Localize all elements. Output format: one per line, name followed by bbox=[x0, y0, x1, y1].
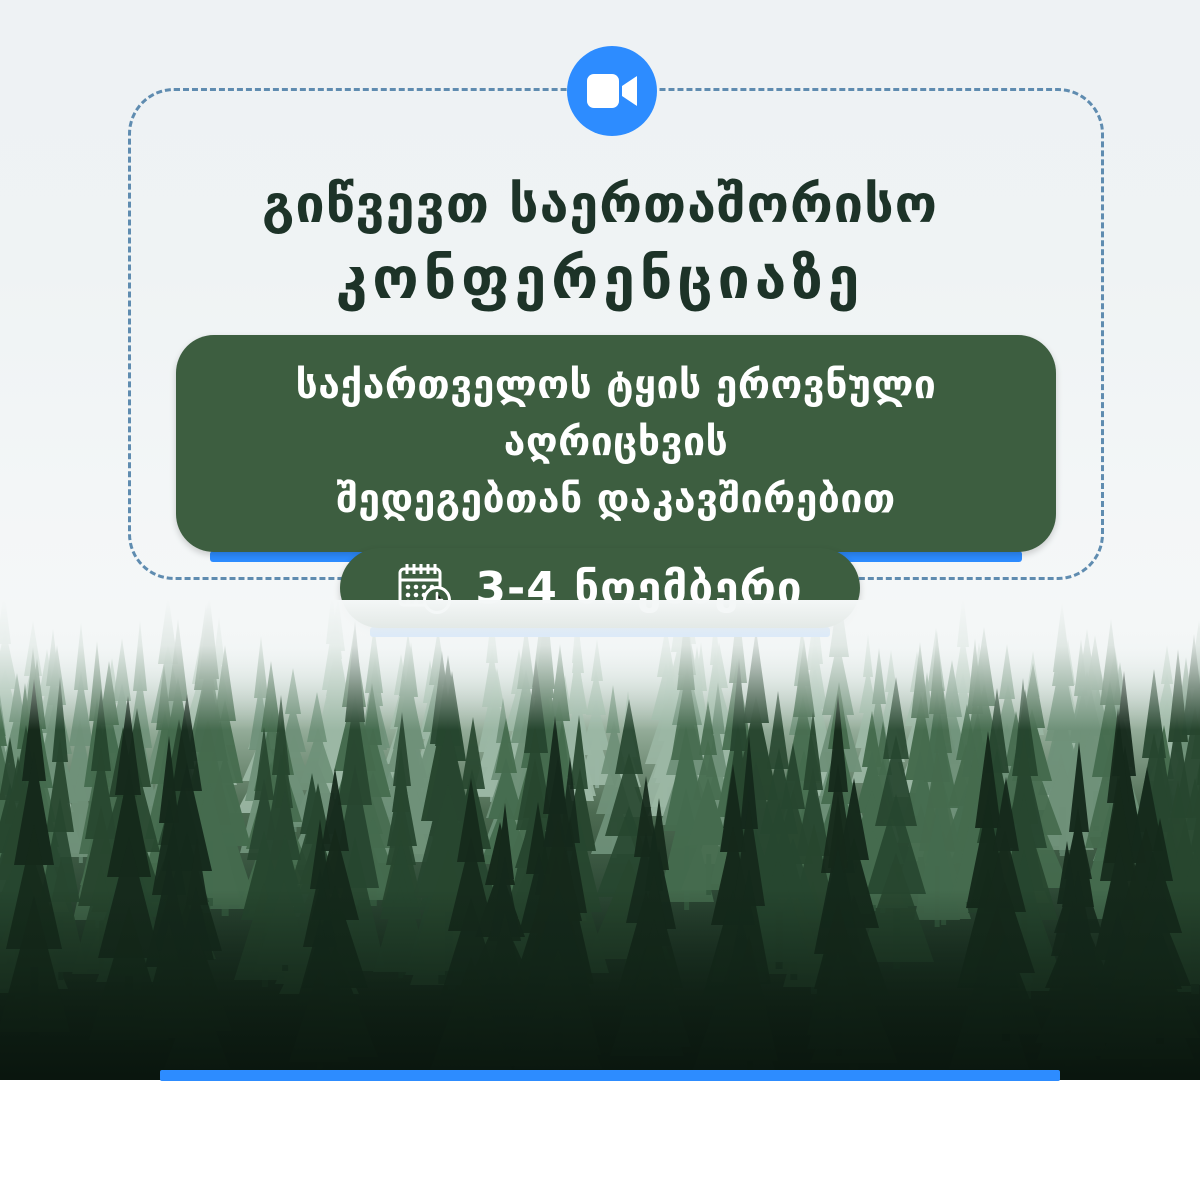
zoom-video-icon bbox=[567, 46, 657, 136]
subject-line-2: შედეგებთან დაკავშირებით bbox=[210, 471, 1022, 528]
poster-canvas: გიწვევთ საერთაშორისო კონფერენციაზე საქარ… bbox=[0, 0, 1200, 1200]
footer-logos: საქართველოს გარემოს დაცვისა და სოფლის მე… bbox=[0, 1080, 1200, 1200]
subject-badge-wrapper: საქართველოს ტყის ეროვნული აღრიცხვის შედე… bbox=[176, 335, 1056, 552]
page-title: გიწვევთ საერთაშორისო კონფერენციაზე bbox=[0, 168, 1200, 316]
sky-haze-overlay bbox=[0, 600, 1200, 730]
headline-line-1: გიწვევთ საერთაშორისო bbox=[0, 168, 1200, 242]
headline-line-2: კონფერენციაზე bbox=[0, 242, 1200, 316]
forest-background-image bbox=[0, 600, 1200, 1080]
forest-floor-shadow bbox=[0, 890, 1200, 1080]
subject-line-1: საქართველოს ტყის ეროვნული აღრიცხვის bbox=[210, 357, 1022, 471]
subject-badge: საქართველოს ტყის ეროვნული აღრიცხვის შედე… bbox=[176, 335, 1056, 552]
